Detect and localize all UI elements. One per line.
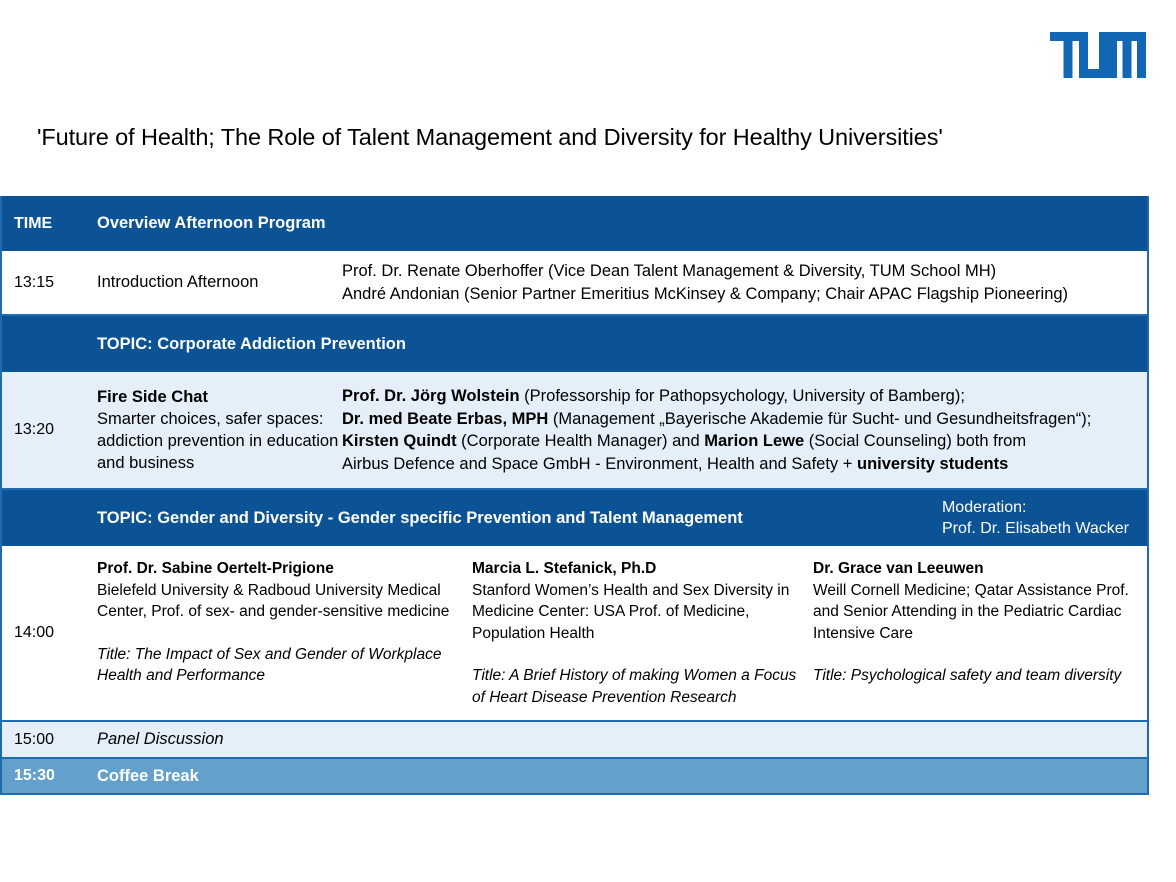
topic-label: TOPIC: Gender and Diversity - Gender spe… bbox=[2, 509, 743, 528]
people-line-3: Kirsten Quindt (Corporate Health Manager… bbox=[342, 430, 1147, 453]
speaker-extra: university students bbox=[857, 455, 1008, 473]
speaker-name: Marion Lewe bbox=[704, 432, 804, 450]
speaker-talk-title: Title: Psychological safety and team div… bbox=[813, 665, 1131, 687]
row-people: Prof. Dr. Jörg Wolstein (Professorship f… bbox=[342, 385, 1147, 475]
page-title: 'Future of Health; The Role of Talent Ma… bbox=[37, 122, 943, 152]
speaker-card-3: Dr. Grace van Leeuwen Weill Cornell Medi… bbox=[813, 558, 1147, 708]
topic-label: TOPIC: Corporate Addiction Prevention bbox=[2, 335, 406, 354]
speaker-talk-title: Title: A Brief History of making Women a… bbox=[472, 665, 797, 708]
speaker-talk-title: Title: The Impact of Sex and Gender of W… bbox=[97, 644, 456, 687]
row-time: 15:30 bbox=[2, 767, 97, 785]
panel-label: Panel Discussion bbox=[97, 730, 1147, 749]
row-time: 13:15 bbox=[2, 274, 97, 292]
moderation-label: Moderation: bbox=[942, 497, 1129, 518]
speaker-columns: Prof. Dr. Sabine Oertelt-Prigione Bielef… bbox=[97, 546, 1147, 720]
speaker-name: Dr. med Beate Erbas, MPH bbox=[342, 410, 548, 428]
moderation-person: Prof. Dr. Elisabeth Wacker bbox=[942, 518, 1129, 539]
speaker-card-2: Marcia L. Stefanick, Ph.D Stanford Women… bbox=[472, 558, 813, 708]
coffee-break-label: Coffee Break bbox=[97, 767, 1147, 786]
people-line-1: Prof. Dr. Jörg Wolstein (Professorship f… bbox=[342, 385, 1147, 408]
header-program-label: Overview Afternoon Program bbox=[97, 214, 1147, 233]
speaker-affiliation: Stanford Women’s Health and Sex Diversit… bbox=[472, 580, 797, 645]
speaker-name: Prof. Dr. Sabine Oertelt-Prigione bbox=[97, 558, 456, 580]
speaker-affiliation: (Corporate Health Manager) and bbox=[457, 432, 705, 450]
row-time: 15:00 bbox=[2, 731, 97, 749]
table-row-topic-addiction: TOPIC: Corporate Addiction Prevention bbox=[2, 316, 1147, 372]
table-row-introduction: 13:15 Introduction Afternoon Prof. Dr. R… bbox=[2, 251, 1147, 316]
moderation-block: Moderation: Prof. Dr. Elisabeth Wacker bbox=[942, 497, 1129, 539]
row-time: 14:00 bbox=[2, 624, 97, 642]
speaker-affiliation: (Social Counseling) both from bbox=[804, 432, 1026, 450]
table-row-speakers: 14:00 Prof. Dr. Sabine Oertelt-Prigione … bbox=[2, 546, 1147, 722]
speaker-card-1: Prof. Dr. Sabine Oertelt-Prigione Bielef… bbox=[97, 558, 472, 708]
speaker-name: Kirsten Quindt bbox=[342, 432, 457, 450]
speaker-name: Dr. Grace van Leeuwen bbox=[813, 558, 1131, 580]
tum-logo bbox=[1050, 32, 1146, 78]
table-header-row: TIME Overview Afternoon Program bbox=[2, 196, 1147, 251]
schedule-table: TIME Overview Afternoon Program 13:15 In… bbox=[0, 196, 1149, 795]
table-row-coffee-break: 15:30 Coffee Break bbox=[2, 759, 1147, 795]
speaker-affiliation: (Management „Bayerische Akademie für Suc… bbox=[548, 410, 1091, 428]
table-row-topic-gender: TOPIC: Gender and Diversity - Gender spe… bbox=[2, 490, 1147, 546]
speaker-affiliation: Weill Cornell Medicine; Qatar Assistance… bbox=[813, 580, 1131, 645]
table-row-fireside: 13:20 Fire Side Chat Smarter choices, sa… bbox=[2, 372, 1147, 490]
people-line-2: Dr. med Beate Erbas, MPH (Management „Ba… bbox=[342, 408, 1147, 431]
people-line: André Andonian (Senior Partner Emeritius… bbox=[342, 283, 1147, 306]
people-line-4: Airbus Defence and Space GmbH - Environm… bbox=[342, 453, 1147, 476]
header-time-label: TIME bbox=[2, 215, 97, 233]
row-time: 13:20 bbox=[2, 421, 97, 439]
speaker-name: Prof. Dr. Jörg Wolstein bbox=[342, 387, 520, 405]
fireside-heading: Fire Side Chat bbox=[97, 386, 342, 408]
speaker-name: Marcia L. Stefanick, Ph.D bbox=[472, 558, 797, 580]
people-line: Prof. Dr. Renate Oberhoffer (Vice Dean T… bbox=[342, 260, 1147, 283]
speaker-affiliation: Bielefeld University & Radboud Universit… bbox=[97, 580, 456, 623]
row-description: Fire Side Chat Smarter choices, safer sp… bbox=[97, 386, 342, 474]
table-row-panel: 15:00 Panel Discussion bbox=[2, 722, 1147, 759]
speaker-affiliation: Airbus Defence and Space GmbH - Environm… bbox=[342, 455, 857, 473]
speaker-affiliation: (Professorship for Pathopsychology, Univ… bbox=[520, 387, 965, 405]
row-people: Prof. Dr. Renate Oberhoffer (Vice Dean T… bbox=[342, 260, 1147, 306]
row-description: Introduction Afternoon bbox=[97, 273, 342, 292]
fireside-subheading: Smarter choices, safer spaces: addiction… bbox=[97, 408, 342, 474]
